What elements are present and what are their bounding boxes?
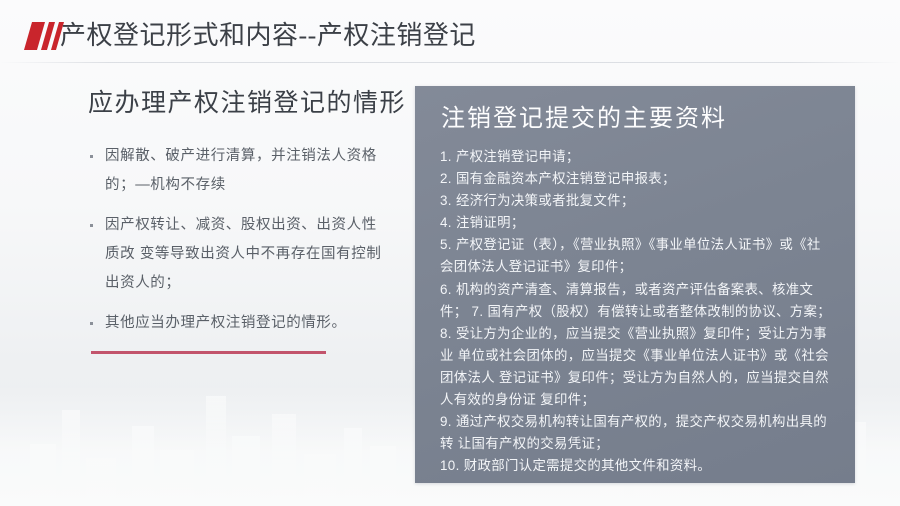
- list-item-label: 其他应当办理产权注销登记的情形。: [105, 315, 347, 331]
- list-item-label: 因解散、破产进行清算，并注销法人资格的；—机构不存续: [105, 148, 377, 193]
- list-item: 4. 注销证明；: [440, 212, 838, 234]
- right-panel-heading: 注销登记提交的主要资料: [441, 102, 727, 136]
- slide-header: 产权登记形式和内容--产权注销登记: [0, 0, 900, 63]
- left-column-underline: [91, 351, 326, 354]
- list-item: 10. 财政部门认定需提交的其他文件和资料。: [440, 455, 838, 477]
- list-item: 5. 产权登记证（表），《营业执照》《事业单位法人证书》或《社 会团体法人登记证…: [440, 234, 838, 278]
- list-item: 3. 经济行为决策或者批复文件；: [440, 190, 838, 212]
- list-item: 9. 通过产权交易机构转让国有产权的，提交产权交易机构出具的转 让国有产权的交易…: [440, 411, 838, 455]
- bullet-dot: [90, 224, 93, 227]
- list-item: 8. 受让方为企业的，应当提交《营业执照》复印件；受让方为事业 单位或社会团体的…: [440, 323, 838, 411]
- slide-canvas: 产权登记形式和内容--产权注销登记 应办理产权注销登记的情形 因解散、破产进行清…: [0, 0, 900, 506]
- list-item-label: 因产权转让、减资、股权出资、出资人性质改 变等导致出资人中不再存在国有控制出资人…: [105, 217, 381, 291]
- right-panel: 注销登记提交的主要资料 1. 产权注销登记申请； 2. 国有金融资本产权注销登记…: [415, 86, 855, 483]
- list-item: 1. 产权注销登记申请；: [440, 146, 838, 168]
- right-panel-list: 1. 产权注销登记申请； 2. 国有金融资本产权注销登记申报表； 3. 经济行为…: [440, 146, 838, 477]
- bullet-dot: [90, 322, 93, 325]
- left-column: 应办理产权注销登记的情形 因解散、破产进行清算，并注销法人资格的；—机构不存续 …: [88, 86, 388, 349]
- page-title: 产权登记形式和内容--产权注销登记: [60, 18, 476, 54]
- list-item: 其他应当办理产权注销登记的情形。: [88, 309, 388, 338]
- left-column-heading: 应办理产权注销登记的情形: [88, 86, 388, 120]
- list-item: 因解散、破产进行清算，并注销法人资格的；—机构不存续: [88, 142, 388, 200]
- list-item: 因产权转让、减资、股权出资、出资人性质改 变等导致出资人中不再存在国有控制出资人…: [88, 211, 388, 298]
- left-bullet-list: 因解散、破产进行清算，并注销法人资格的；—机构不存续 因产权转让、减资、股权出资…: [88, 142, 388, 338]
- header-divider: [0, 62, 900, 63]
- list-item: 6. 机构的资产清查、清算报告，或者资产评估备案表、核准文件； 7. 国有产权（…: [440, 279, 838, 323]
- list-item: 2. 国有金融资本产权注销登记申报表；: [440, 168, 838, 190]
- bullet-dot: [90, 155, 93, 158]
